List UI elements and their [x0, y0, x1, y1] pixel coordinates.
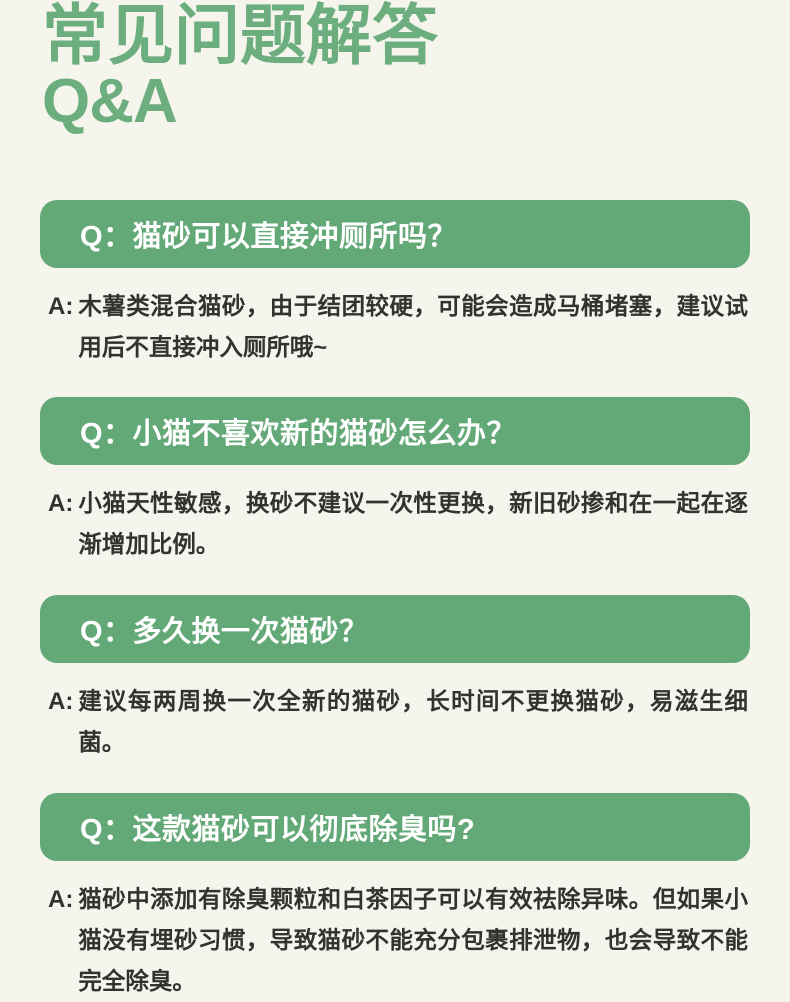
question-banner[interactable]: Q：小猫不喜欢新的猫砂怎么办？	[40, 397, 750, 465]
faq-page: 常见问题解答 Q&A Q：猫砂可以直接冲厕所吗？ A: 木薯类混合猫砂，由于结团…	[0, 0, 790, 985]
spacer	[0, 565, 790, 595]
question-text: Q：这款猫砂可以彻底除臭吗?	[40, 806, 475, 848]
question-text: Q：小猫不喜欢新的猫砂怎么办？	[40, 410, 516, 452]
faq-item: Q：多久换一次猫砂？ A: 建议每两周换一次全新的猫砂，长时间不更换猫砂，易滋生…	[0, 595, 790, 763]
answer-text: 猫砂中添加有除臭颗粒和白茶因子可以有效祛除异味。但如果小猫没有埋砂习惯，导致猫砂…	[78, 879, 748, 1002]
answer-prefix: A:	[48, 879, 78, 920]
answer-prefix: A:	[48, 681, 78, 722]
answer-block: A: 木薯类混合猫砂，由于结团较硬，可能会造成马桶堵塞，建议试用后不直接冲入厕所…	[0, 268, 790, 368]
answer-text: 建议每两周换一次全新的猫砂，长时间不更换猫砂，易滋生细菌。	[78, 681, 748, 763]
answer-block: A: 小猫天性敏感，换砂不建议一次性更换，新旧砂掺和在一起在逐渐增加比例。	[0, 465, 790, 565]
question-text: Q：多久换一次猫砂？	[40, 608, 369, 650]
page-title: 常见问题解答	[42, 0, 742, 74]
answer-block: A: 猫砂中添加有除臭颗粒和白茶因子可以有效祛除异味。但如果小猫没有埋砂习惯，导…	[0, 861, 790, 1002]
spacer	[0, 763, 790, 793]
answer-prefix: A:	[48, 483, 78, 524]
answer-text: 木薯类混合猫砂，由于结团较硬，可能会造成马桶堵塞，建议试用后不直接冲入厕所哦~	[78, 286, 748, 368]
faq-list: Q：猫砂可以直接冲厕所吗？ A: 木薯类混合猫砂，由于结团较硬，可能会造成马桶堵…	[0, 200, 790, 1002]
faq-item: Q：小猫不喜欢新的猫砂怎么办？ A: 小猫天性敏感，换砂不建议一次性更换，新旧砂…	[0, 397, 790, 565]
answer-prefix: A:	[48, 286, 78, 327]
question-text: Q：猫砂可以直接冲厕所吗？	[40, 213, 457, 255]
question-banner[interactable]: Q：多久换一次猫砂？	[40, 595, 750, 663]
page-header: 常见问题解答 Q&A	[42, 0, 742, 134]
page-subtitle: Q&A	[42, 70, 742, 134]
question-banner[interactable]: Q：这款猫砂可以彻底除臭吗?	[40, 793, 750, 861]
question-banner[interactable]: Q：猫砂可以直接冲厕所吗？	[40, 200, 750, 268]
spacer	[0, 368, 790, 397]
answer-block: A: 建议每两周换一次全新的猫砂，长时间不更换猫砂，易滋生细菌。	[0, 663, 790, 763]
answer-text: 小猫天性敏感，换砂不建议一次性更换，新旧砂掺和在一起在逐渐增加比例。	[78, 483, 748, 565]
faq-item: Q：猫砂可以直接冲厕所吗？ A: 木薯类混合猫砂，由于结团较硬，可能会造成马桶堵…	[0, 200, 790, 368]
faq-item: Q：这款猫砂可以彻底除臭吗? A: 猫砂中添加有除臭颗粒和白茶因子可以有效祛除异…	[0, 793, 790, 1002]
